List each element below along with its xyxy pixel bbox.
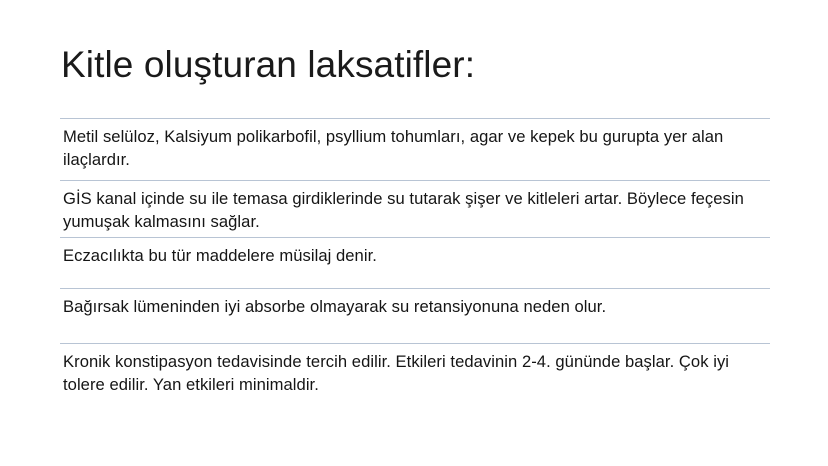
list-item: Bağırsak lümeninden iyi absorbe olmayara… xyxy=(60,288,770,343)
list-item-text: Eczacılıkta bu tür maddelere müsilaj den… xyxy=(60,238,770,288)
content-list: Metil selüloz, Kalsiyum polikarbofil, ps… xyxy=(60,118,770,396)
list-item: Kronik konstipasyon tedavisinde tercih e… xyxy=(60,343,770,396)
list-item: Eczacılıkta bu tür maddelere müsilaj den… xyxy=(60,237,770,288)
list-item: GİS kanal içinde su ile temasa girdikler… xyxy=(60,180,770,237)
page-title: Kitle oluşturan laksatifler: xyxy=(61,43,773,87)
list-item-text: Metil selüloz, Kalsiyum polikarbofil, ps… xyxy=(60,119,770,180)
list-item-text: GİS kanal içinde su ile temasa girdikler… xyxy=(60,181,770,237)
list-item-text: Kronik konstipasyon tedavisinde tercih e… xyxy=(60,344,770,396)
slide-canvas: Kitle oluşturan laksatifler: Metil selül… xyxy=(0,0,828,466)
list-item-text: Bağırsak lümeninden iyi absorbe olmayara… xyxy=(60,289,770,343)
list-item: Metil selüloz, Kalsiyum polikarbofil, ps… xyxy=(60,118,770,180)
